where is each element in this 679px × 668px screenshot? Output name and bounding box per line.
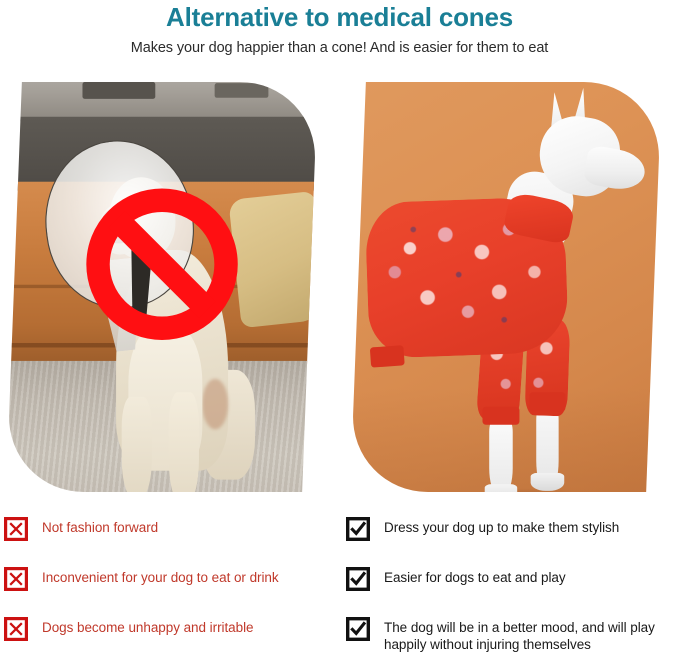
dog-fur-patch	[202, 379, 229, 430]
black-check-checkbox-icon	[346, 617, 370, 641]
pros-list-item: Dress your dog up to make them stylish	[346, 516, 679, 566]
pajama-photo-content	[350, 82, 662, 492]
red-x-checkbox-icon	[4, 617, 28, 641]
dog-front-leg-left	[122, 397, 152, 492]
pajama-cuff-back-leg	[369, 346, 404, 369]
mannequin-paw-front	[484, 484, 517, 492]
black-check-checkbox-icon	[346, 567, 370, 591]
prohibition-sign-icon	[82, 186, 241, 342]
page-subtitle: Makes your dog happier than a cone! And …	[0, 32, 679, 58]
cons-list-item: Dogs become unhappy and irritable	[4, 616, 343, 668]
cons-list-item: Not fashion forward	[4, 516, 343, 566]
red-x-checkbox-icon	[4, 567, 28, 591]
red-x-checkbox-icon	[4, 517, 28, 541]
mannequin-leg-front	[489, 420, 512, 492]
mannequin-paw-rear	[531, 473, 564, 491]
pros-item-label: Dress your dog up to make them stylish	[384, 516, 619, 536]
comparison-lists: Not fashion forward Inconvenient for you…	[0, 516, 679, 660]
pajama-cuff-rear	[529, 393, 565, 411]
black-check-checkbox-icon	[346, 517, 370, 541]
pros-item-label: Easier for dogs to eat and play	[384, 566, 566, 586]
cons-item-label: Inconvenient for your dog to eat or drin…	[42, 566, 279, 586]
dog-wearing-cone-photo	[6, 82, 318, 492]
pros-list-item: Easier for dogs to eat and play	[346, 566, 679, 616]
photo-panels	[0, 82, 679, 500]
wall-panel-left	[82, 82, 155, 99]
cons-item-label: Not fashion forward	[42, 516, 158, 536]
pros-list-item: The dog will be in a better mood, and wi…	[346, 616, 679, 668]
pros-column: Dress your dog up to make them stylish E…	[346, 516, 679, 660]
pros-item-label: The dog will be in a better mood, and wi…	[384, 616, 679, 653]
header: Alternative to medical cones Makes your …	[0, 0, 679, 58]
cone-photo-content	[6, 82, 318, 492]
cons-item-label: Dogs become unhappy and irritable	[42, 616, 253, 636]
pajama-cuff-front	[483, 406, 519, 424]
dog-front-leg-right	[169, 393, 199, 492]
dog-wearing-pajamas-photo	[350, 82, 662, 492]
room-wall	[6, 82, 318, 122]
page-title: Alternative to medical cones	[0, 2, 679, 32]
cons-list-item: Inconvenient for your dog to eat or drin…	[4, 566, 343, 616]
wall-panel-right	[215, 83, 268, 97]
cons-column: Not fashion forward Inconvenient for you…	[4, 516, 343, 660]
couch-pillow	[228, 191, 317, 328]
wall-warm-accent	[6, 86, 13, 99]
